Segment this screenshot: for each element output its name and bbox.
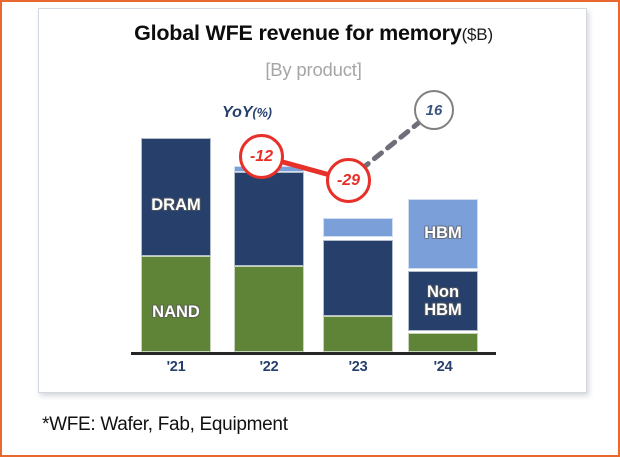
- footnote-text: *WFE: Wafer, Fab, Equipment: [42, 414, 288, 436]
- chart-panel: Global WFE revenue for memory($B) [By pr…: [38, 8, 587, 393]
- yoy-axis-label: YoY(%): [222, 104, 272, 122]
- yoy-marker-23[interactable]: -29: [326, 158, 371, 203]
- yoy-marker-24-forecast[interactable]: 16: [414, 90, 454, 130]
- slide-canvas: Global WFE revenue for memory($B) [By pr…: [0, 0, 620, 457]
- yoy-label-percent: (%): [253, 106, 272, 120]
- plot-area: DRAM NAND HBM Non HBM '2: [39, 9, 588, 394]
- yoy-connector-lines: [39, 9, 588, 394]
- yoy-label-text: YoY: [222, 104, 253, 121]
- yoy-marker-22[interactable]: -12: [239, 134, 284, 179]
